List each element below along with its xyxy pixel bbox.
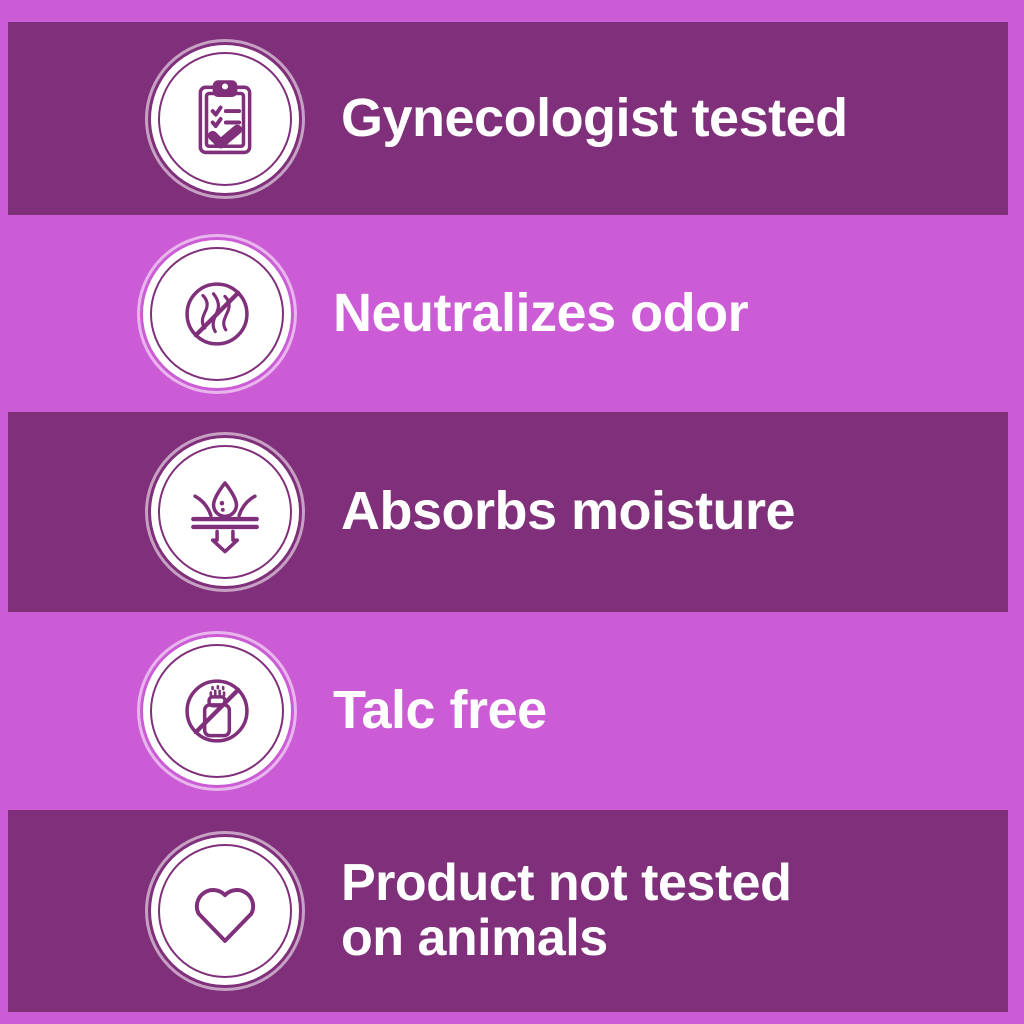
icon-badge xyxy=(143,240,291,388)
icon-badge xyxy=(143,637,291,785)
benefit-row-talc-free: Talc free xyxy=(0,612,1024,810)
benefit-label: Neutralizes odor xyxy=(333,285,748,342)
clipboard-checklist-icon xyxy=(181,75,269,163)
benefit-label: Product not tested on animals xyxy=(341,856,791,965)
icon-badge xyxy=(151,438,299,586)
no-talc-bottle-icon xyxy=(173,667,261,755)
benefit-label: Talc free xyxy=(333,682,547,739)
benefit-row-absorbs-moisture: Absorbs moisture xyxy=(8,412,1008,612)
benefits-infographic: Gynecologist tested Neutralizes odor xyxy=(0,0,1024,1024)
icon-badge xyxy=(151,837,299,985)
absorbs-moisture-icon xyxy=(181,468,269,556)
benefit-label: Gynecologist tested xyxy=(341,90,848,147)
heart-icon xyxy=(181,867,269,955)
benefit-label: Absorbs moisture xyxy=(341,483,795,540)
icon-badge xyxy=(151,45,299,193)
benefit-row-gynecologist-tested: Gynecologist tested xyxy=(8,22,1008,215)
benefit-row-not-tested-on-animals: Product not tested on animals xyxy=(8,810,1008,1012)
no-odor-icon xyxy=(173,270,261,358)
benefit-row-neutralizes-odor: Neutralizes odor xyxy=(0,215,1024,412)
